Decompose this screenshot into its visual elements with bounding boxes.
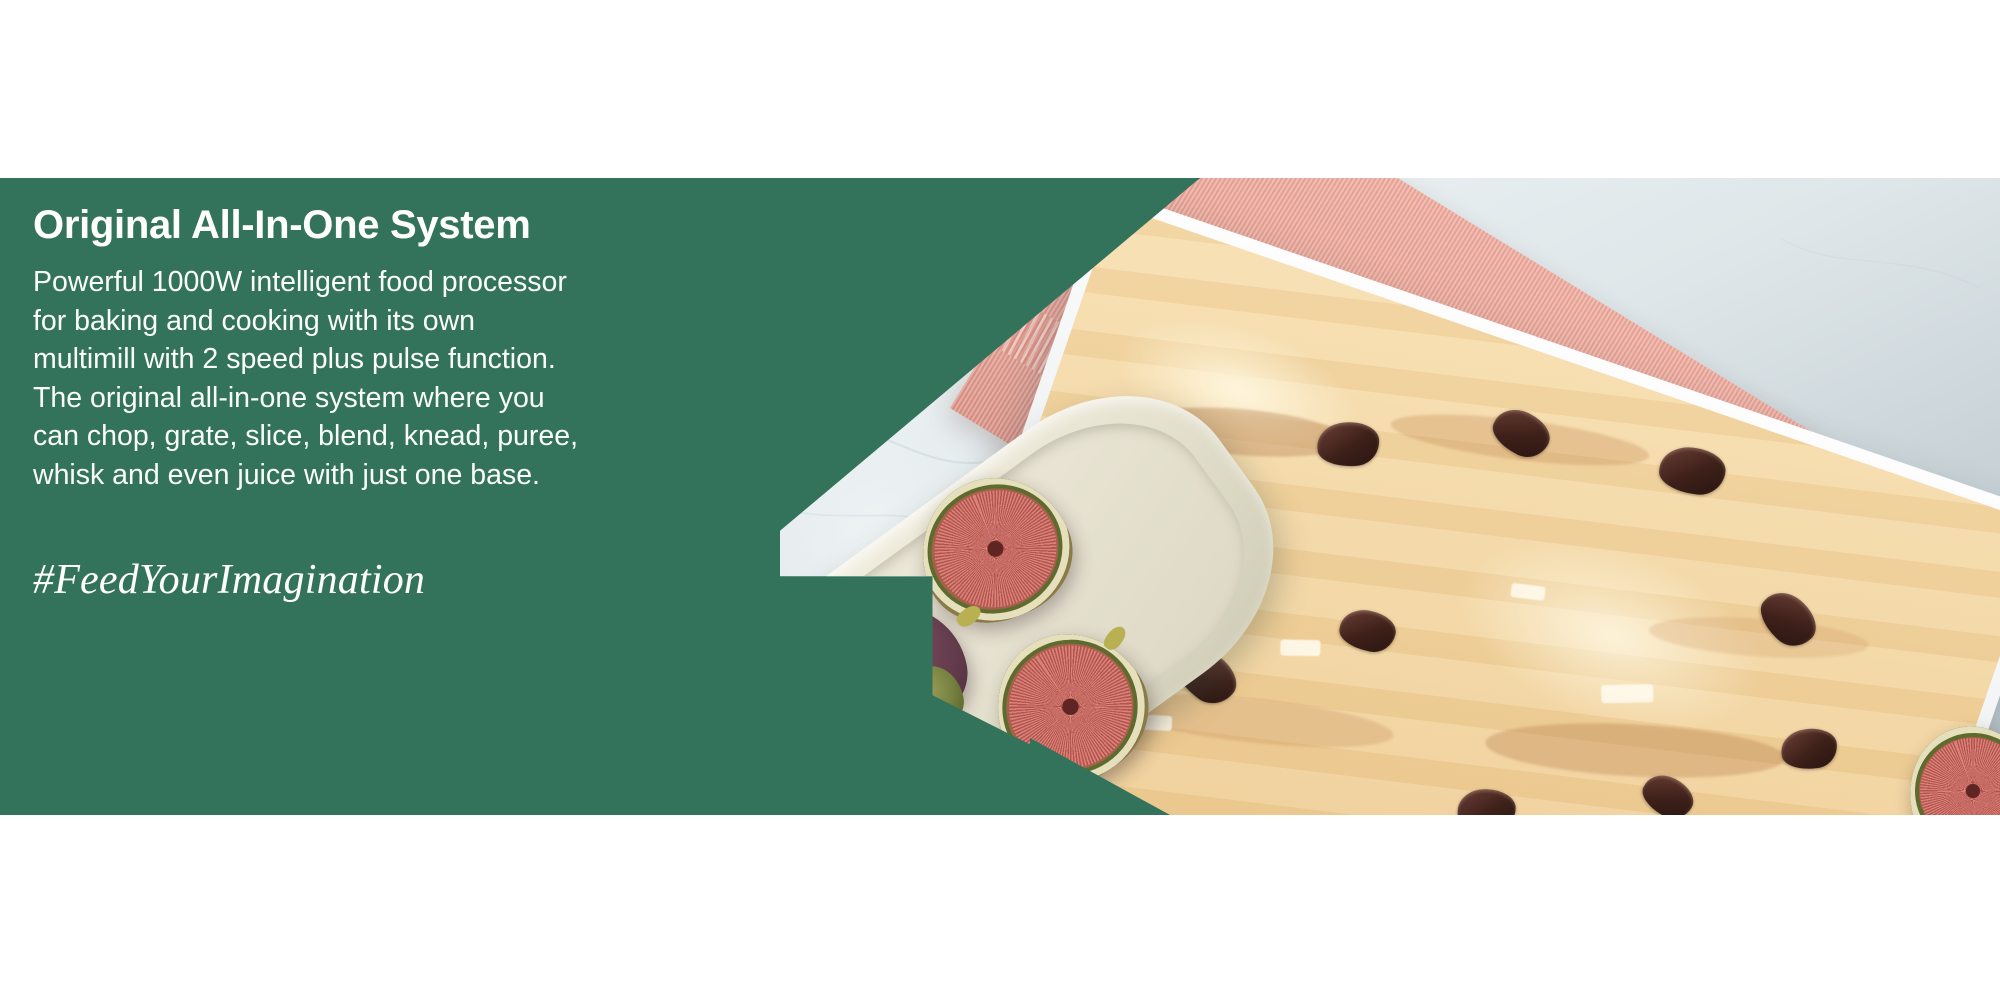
description-line: Powerful 1000W intelligent food processo…: [33, 263, 733, 302]
description-line: The original all-in-one system where you: [33, 379, 733, 418]
description-line: can chop, grate, slice, blend, knead, pu…: [33, 417, 733, 456]
page-title: Original All-In-One System: [33, 203, 530, 247]
description-line: whisk and even juice with just one base.: [33, 456, 733, 495]
banner-copy: Original All-In-One System Powerful 1000…: [33, 178, 753, 815]
description-line: multimill with 2 speed plus pulse functi…: [33, 340, 733, 379]
diagonal-mask: [700, 178, 2000, 815]
description-line: for baking and cooking with its own: [33, 302, 733, 341]
campaign-hashtag: #FeedYourImagination: [33, 556, 425, 604]
description-paragraph: Powerful 1000W intelligent food processo…: [33, 263, 733, 494]
promo-banner: Original All-In-One System Powerful 1000…: [0, 178, 2000, 815]
